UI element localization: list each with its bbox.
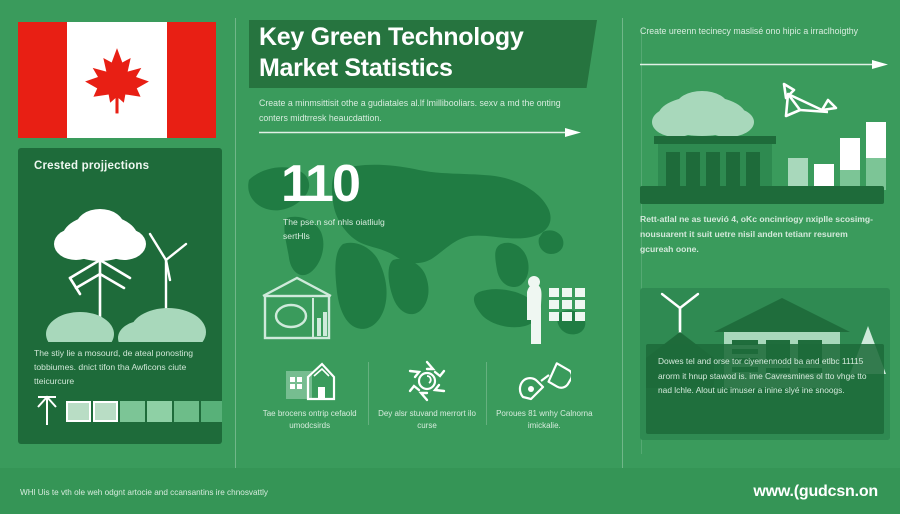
swatch-5: [201, 401, 222, 422]
right-column: Create ureenn tecinecy maslisé ono hipic…: [632, 0, 900, 514]
house-solar-icon: [257, 274, 337, 344]
swatch-1: [93, 401, 118, 422]
eco-recycle-icon: [374, 358, 479, 404]
big-statistic-number: 110: [281, 158, 359, 210]
swatch-4: [174, 401, 199, 422]
center-column: Key Green Technology Market Statistics C…: [243, 0, 611, 514]
right-arrow-icon: [640, 60, 888, 69]
factory-building-icon: [654, 136, 776, 190]
right-arrow-icon: [259, 128, 581, 137]
up-arrow-icon: [34, 392, 60, 426]
stat-caption-1: Dey alsr stuvand merrort ilo curse: [374, 408, 479, 433]
infographic-canvas: Crested projjections: [0, 0, 900, 514]
right-bottom-card: Dowes tel and orse tor ciyenennodd ba an…: [640, 288, 890, 440]
power-plug-icon: [492, 358, 597, 404]
maple-leaf-icon: [79, 40, 155, 120]
right-panel-body: Rett-atlal ne as tuevió 4, oKc oncinriog…: [640, 212, 878, 256]
divider-left: [235, 18, 236, 474]
flag-center-band: [67, 22, 167, 138]
stat-caption-0: Tae brocens ontrip cefaold umodcsirds: [257, 408, 362, 433]
stat-cell-2[interactable]: Poroues 81 wnhy Calnorna imickalie.: [486, 358, 603, 433]
stat-cell-0[interactable]: Tae brocens ontrip cefaold umodcsirds: [251, 358, 368, 433]
footer-url[interactable]: www.(gudcsn.on: [753, 483, 878, 501]
house-solar-icon: [257, 358, 362, 404]
left-panel-swatch-row: [66, 401, 222, 422]
right-card-text: Dowes tel and orse tor ciyenennodd ba an…: [658, 354, 872, 398]
big-statistic-caption: The pse.n sof nhls oiatliulg sertHls: [283, 216, 403, 244]
page-subtitle: Create a minmsittisit othe a gudiatales …: [259, 96, 579, 126]
flag-left-band: [18, 22, 67, 138]
flag-right-band: [167, 22, 216, 138]
wind-turbine-icon: [784, 84, 836, 116]
stat-icon-row: Tae brocens ontrip cefaold umodcsirds De: [251, 358, 603, 433]
right-panel-lead: Create ureenn tecinecy maslisé ono hipic…: [640, 24, 876, 39]
canadian-flag: [18, 22, 216, 138]
divider-right: [622, 18, 623, 474]
swatch-2: [120, 401, 145, 422]
footer-note: WHl Uis te vth ole weh odgnt artocie and…: [20, 488, 490, 497]
left-panel-title: Crested projjections: [34, 160, 149, 172]
bar-chart-icon: [788, 122, 886, 190]
cloud-icon: [652, 91, 754, 137]
swatch-0: [66, 401, 91, 422]
right-panel-illustration: [632, 78, 900, 190]
left-panel-body: The stiy lie a mosourd, de ateal ponosti…: [34, 346, 210, 389]
left-panel-illustration: [18, 182, 222, 342]
person-silhouette-icon: [527, 276, 542, 344]
stat-cell-1[interactable]: Dey alsr stuvand merrort ilo curse: [368, 358, 485, 433]
page-title: Key Green Technology Market Statistics: [259, 22, 599, 83]
left-projection-panel: Crested projjections: [18, 148, 222, 444]
right-panel-slab: [640, 186, 884, 204]
stat-caption-2: Poroues 81 wnhy Calnorna imickalie.: [492, 408, 597, 433]
swatch-3: [147, 401, 172, 422]
solar-grid-icon: [549, 288, 585, 321]
